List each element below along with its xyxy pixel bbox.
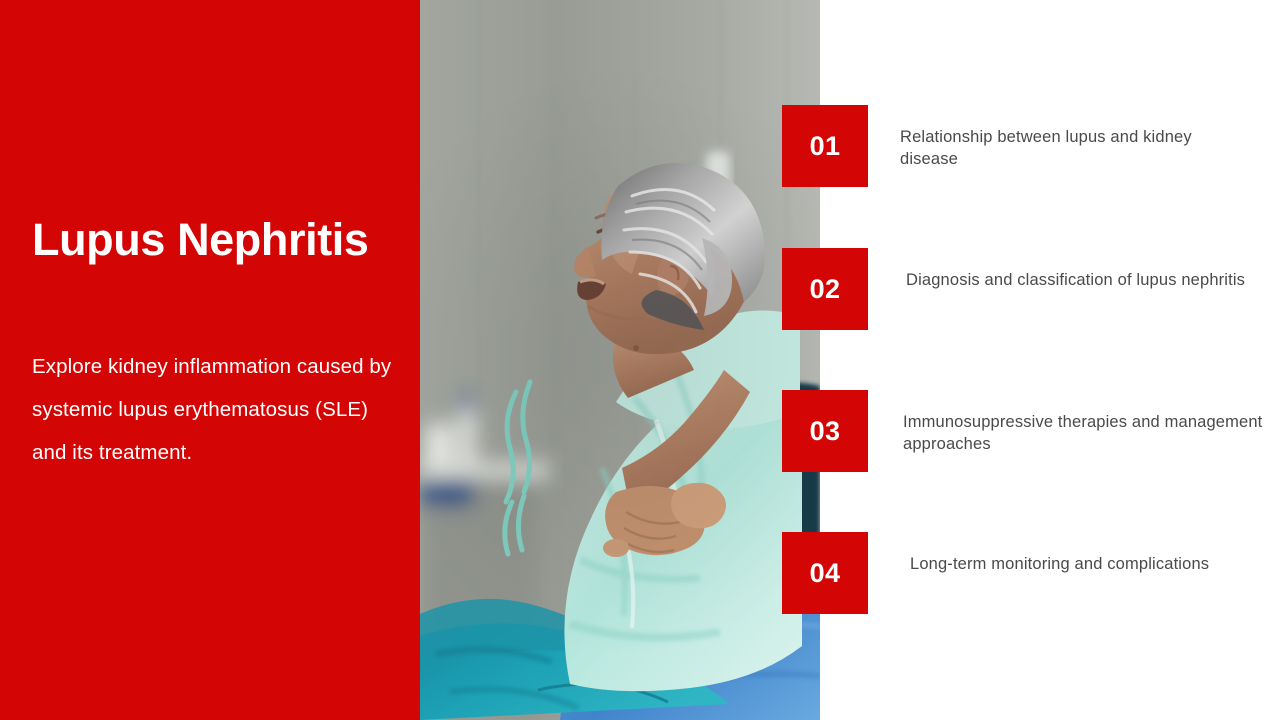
- agenda-number-box-02: 02: [782, 248, 868, 330]
- left-red-panel: Lupus Nephritis Explore kidney inflammat…: [0, 0, 420, 720]
- agenda-item-03[interactable]: 03 Immunosuppressive therapies and manag…: [782, 390, 1242, 472]
- agenda-number-03: 03: [810, 418, 841, 445]
- agenda-item-02[interactable]: 02 Diagnosis and classification of lupus…: [782, 248, 1242, 330]
- agenda-number-box-01: 01: [782, 105, 868, 187]
- page-subtitle: Explore kidney inflammation caused by sy…: [32, 345, 392, 474]
- page-title: Lupus Nephritis: [32, 211, 392, 268]
- agenda-text-03: Immunosuppressive therapies and manageme…: [903, 411, 1263, 455]
- agenda-number-box-04: 04: [782, 532, 868, 614]
- agenda-number-01: 01: [810, 133, 841, 160]
- agenda-number-02: 02: [810, 276, 841, 303]
- agenda-number-04: 04: [810, 560, 841, 587]
- agenda-text-04: Long-term monitoring and complications: [910, 553, 1260, 575]
- slide: Lupus Nephritis Explore kidney inflammat…: [0, 0, 1280, 720]
- agenda-item-04[interactable]: 04 Long-term monitoring and complication…: [782, 532, 1242, 614]
- patient-photo: [420, 0, 820, 720]
- agenda-text-01: Relationship between lupus and kidney di…: [900, 126, 1250, 170]
- agenda-number-box-03: 03: [782, 390, 868, 472]
- agenda-text-02: Diagnosis and classification of lupus ne…: [906, 269, 1256, 291]
- agenda-item-01[interactable]: 01 Relationship between lupus and kidney…: [782, 105, 1242, 187]
